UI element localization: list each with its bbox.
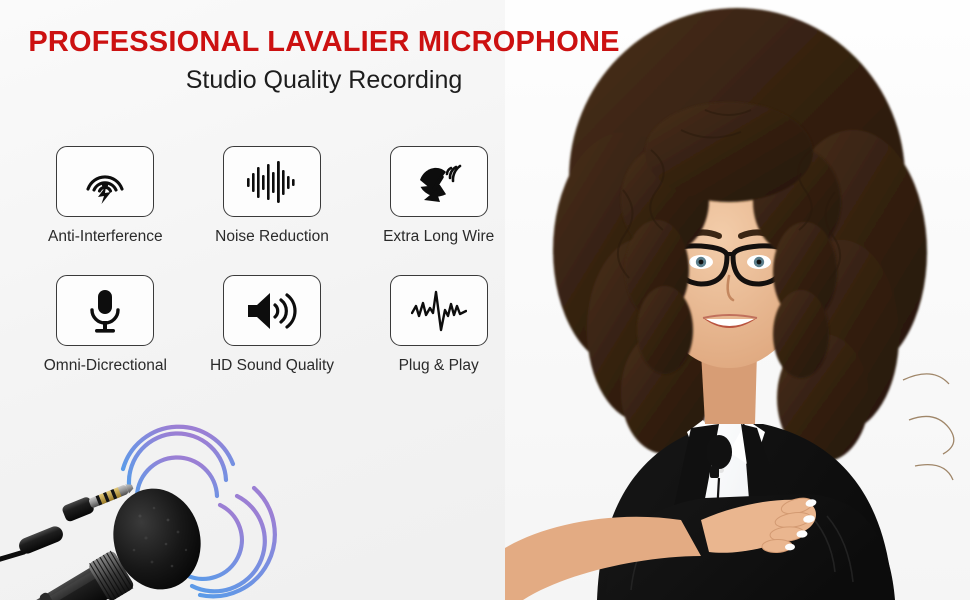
feature-item-plug-and-play: Plug & Play (355, 275, 522, 375)
pulse-waveform-icon (390, 275, 488, 346)
product-photo (0, 392, 290, 600)
page-title: PROFESSIONAL LAVALIER MICROPHONE (24, 26, 624, 59)
feature-item-omni-directional: Omni-Dicrectional (22, 275, 189, 375)
page-subtitle: Studio Quality Recording (24, 66, 624, 95)
feature-label: Omni-Dicrectional (44, 357, 167, 375)
feature-item-noise-reduction: Noise Reduction (189, 146, 356, 246)
feature-label: Noise Reduction (215, 228, 329, 246)
feature-item-extra-long-wire: Extra Long Wire (355, 146, 522, 246)
product-banner: PROFESSIONAL LAVALIER MICROPHONE Studio … (0, 0, 970, 600)
signal-waves-top (123, 427, 233, 499)
feature-label: Plug & Play (399, 357, 479, 375)
feature-label: HD Sound Quality (210, 357, 334, 375)
feature-item-hd-sound-quality: HD Sound Quality (189, 275, 356, 375)
mic-cable (0, 552, 24, 562)
noise-reduction-waveform-icon (223, 146, 321, 217)
microphone-icon (56, 275, 154, 346)
speaker-icon (223, 275, 321, 346)
feature-label: Anti-Interference (48, 228, 163, 246)
feature-label: Extra Long Wire (383, 228, 494, 246)
mic-body (0, 549, 135, 600)
anti-interference-icon (56, 146, 154, 217)
cable-strain-relief (17, 524, 66, 556)
feature-grid: Anti-Interference (22, 146, 522, 375)
feature-item-anti-interference: Anti-Interference (22, 146, 189, 246)
satellite-dish-icon (390, 146, 488, 217)
